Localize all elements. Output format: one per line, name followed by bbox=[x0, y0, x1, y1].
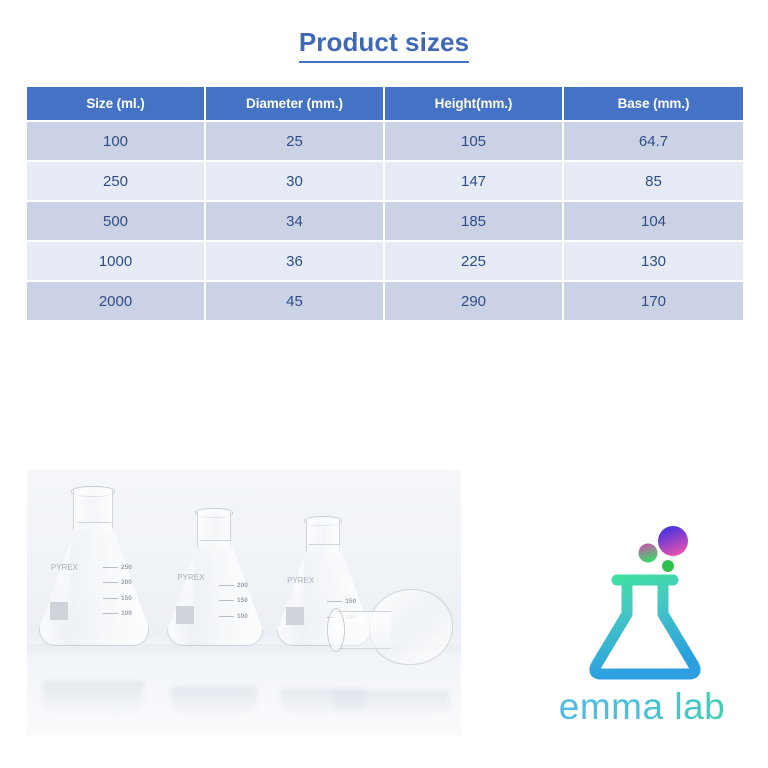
flask-brandmark: PYREX bbox=[51, 564, 78, 573]
flask-graduations: 200 150 100 bbox=[219, 583, 248, 630]
table-row: 250 30 147 85 bbox=[27, 162, 743, 202]
flask-outline-icon bbox=[595, 580, 695, 674]
flask-reflection bbox=[171, 687, 257, 717]
column-header-diameter: Diameter (mm.) bbox=[206, 87, 385, 122]
product-photo-erlenmeyer-flasks: PYREX 250 200 150 100 PYREX 200 150 100 … bbox=[27, 470, 461, 735]
emma-lab-logo: emma lab bbox=[528, 500, 756, 740]
page-title: Product sizes bbox=[299, 28, 469, 63]
cell-base: 130 bbox=[564, 242, 743, 282]
bubble-small-icon bbox=[662, 560, 674, 572]
table-row: 500 34 185 104 bbox=[27, 202, 743, 242]
cell-base: 64.7 bbox=[564, 122, 743, 162]
column-header-base: Base (mm.) bbox=[564, 87, 743, 122]
flask-brandmark: PYREX bbox=[177, 574, 204, 583]
flask-label-patch bbox=[176, 606, 194, 624]
cell-size: 100 bbox=[27, 122, 206, 162]
cell-height: 290 bbox=[385, 282, 564, 322]
flask-label-patch bbox=[50, 602, 68, 620]
table-row: 100 25 105 64.7 bbox=[27, 122, 743, 162]
cell-size: 1000 bbox=[27, 242, 206, 282]
flask-reflection bbox=[333, 691, 449, 717]
table-row: 2000 45 290 170 bbox=[27, 282, 743, 322]
flask-rim bbox=[327, 608, 345, 652]
page-title-container: Product sizes bbox=[0, 28, 768, 63]
graduation-mark: 150 bbox=[219, 598, 248, 605]
column-header-height: Height(mm.) bbox=[385, 87, 564, 122]
bubble-medium-icon bbox=[639, 544, 658, 563]
graduation-mark: 150 bbox=[103, 596, 132, 603]
table-body: 100 25 105 64.7 250 30 147 85 500 34 185… bbox=[27, 122, 743, 322]
flask-label-patch bbox=[286, 607, 304, 625]
cell-diameter: 45 bbox=[206, 282, 385, 322]
cell-base: 170 bbox=[564, 282, 743, 322]
cell-diameter: 25 bbox=[206, 122, 385, 162]
column-header-size: Size (ml.) bbox=[27, 87, 206, 122]
flask-body bbox=[39, 522, 149, 646]
logo-text: emma lab bbox=[528, 686, 756, 728]
product-sizes-table: Size (ml.) Diameter (mm.) Height(mm.) Ba… bbox=[27, 87, 743, 322]
cell-size: 250 bbox=[27, 162, 206, 202]
table-row: 1000 36 225 130 bbox=[27, 242, 743, 282]
cell-height: 225 bbox=[385, 242, 564, 282]
cell-size: 2000 bbox=[27, 282, 206, 322]
flask-graduations: 250 200 150 100 bbox=[103, 565, 132, 627]
cell-diameter: 34 bbox=[206, 202, 385, 242]
cell-height: 105 bbox=[385, 122, 564, 162]
bubble-large-icon bbox=[658, 526, 688, 556]
flask-body bbox=[167, 540, 263, 646]
flask-brandmark: PYREX bbox=[287, 577, 314, 586]
table-header: Size (ml.) Diameter (mm.) Height(mm.) Ba… bbox=[27, 87, 743, 122]
graduation-mark: 100 bbox=[219, 614, 248, 621]
flask-reflection bbox=[43, 681, 143, 717]
cell-diameter: 36 bbox=[206, 242, 385, 282]
cell-height: 185 bbox=[385, 202, 564, 242]
flask-logo-icon bbox=[585, 508, 705, 688]
table-header-row: Size (ml.) Diameter (mm.) Height(mm.) Ba… bbox=[27, 87, 743, 122]
graduation-mark: 200 bbox=[103, 580, 132, 587]
flask-large: PYREX 250 200 150 100 bbox=[39, 486, 147, 646]
graduation-mark: 100 bbox=[103, 611, 132, 618]
cell-diameter: 30 bbox=[206, 162, 385, 202]
graduation-mark: 250 bbox=[103, 565, 132, 572]
flask-medium: PYREX 200 150 100 bbox=[167, 508, 261, 646]
cell-base: 85 bbox=[564, 162, 743, 202]
graduation-mark: 200 bbox=[219, 583, 248, 590]
cell-height: 147 bbox=[385, 162, 564, 202]
cell-size: 500 bbox=[27, 202, 206, 242]
cell-base: 104 bbox=[564, 202, 743, 242]
flask-fallen bbox=[327, 589, 453, 663]
